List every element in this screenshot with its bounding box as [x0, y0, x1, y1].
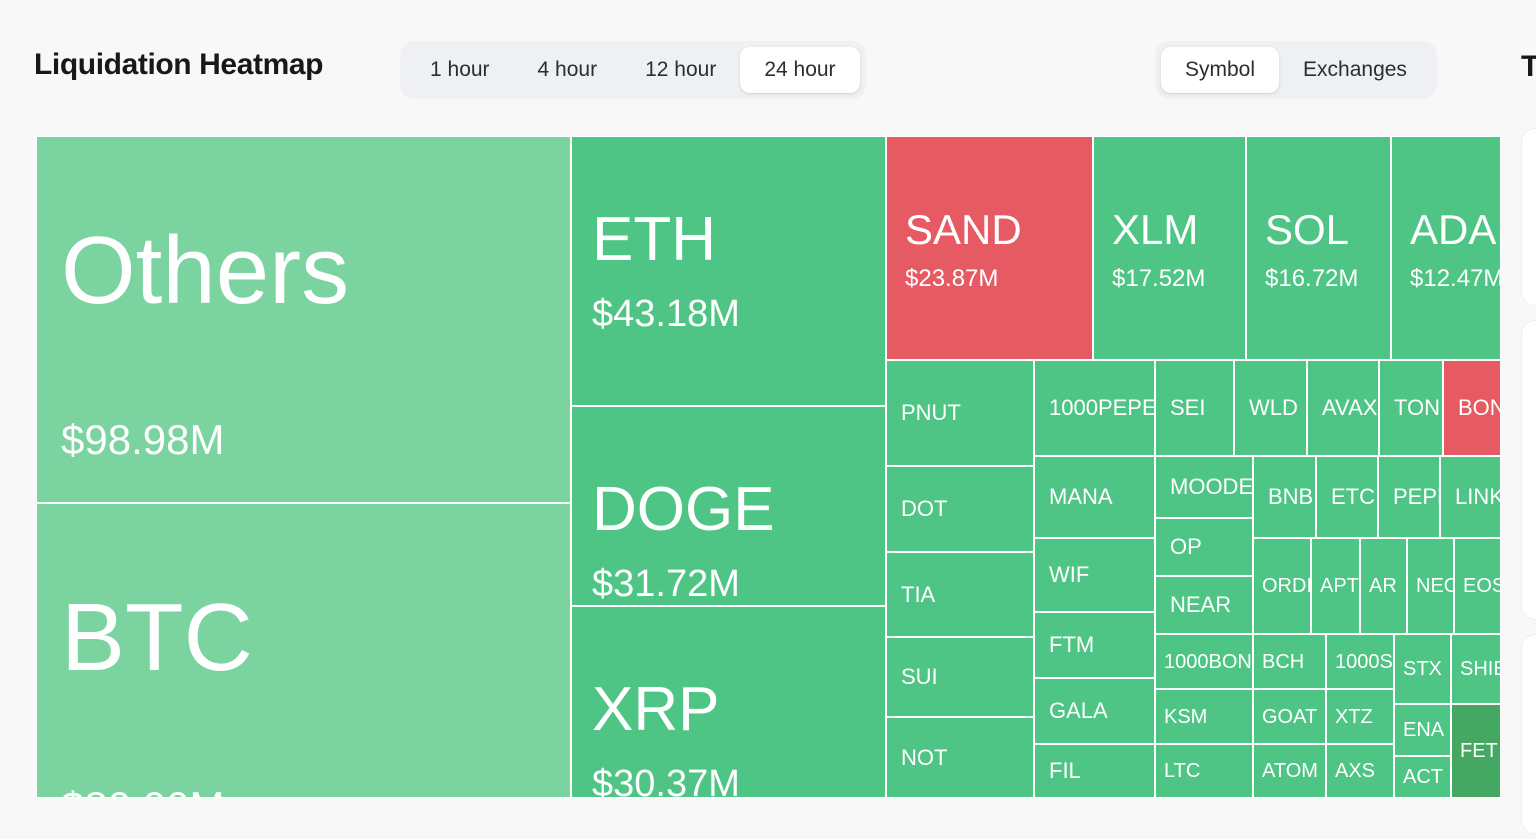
- tile-symbol-label: STX: [1403, 659, 1442, 679]
- tile-symbol-label: BONK: [1458, 397, 1501, 419]
- tile-value-label: $23.87M: [905, 267, 998, 291]
- tile-value-label: $30.37M: [592, 765, 740, 798]
- treemap-tile-sui[interactable]: SUI: [886, 637, 1034, 717]
- tile-symbol-label: XTZ: [1335, 707, 1373, 727]
- treemap-tile-bnb[interactable]: BNB: [1253, 456, 1316, 538]
- tile-symbol-label: NEAR: [1170, 594, 1231, 616]
- tile-symbol-label: SEI: [1170, 397, 1205, 419]
- treemap-tile-atom[interactable]: ATOM: [1253, 744, 1326, 798]
- tile-value-label: $98.98M: [61, 419, 224, 461]
- tile-symbol-label: PEPE: [1393, 486, 1440, 508]
- tile-symbol-label: DOT: [901, 498, 947, 520]
- tile-symbol-label: PNUT: [901, 402, 961, 424]
- tile-symbol-label: DOGE: [592, 479, 775, 541]
- treemap-tile-not[interactable]: NOT: [886, 717, 1034, 798]
- tile-symbol-label: LTC: [1164, 761, 1200, 781]
- tile-symbol-label: ORDI: [1262, 576, 1311, 596]
- treemap-tile-tia[interactable]: TIA: [886, 552, 1034, 637]
- treemap-tile-link[interactable]: LINK: [1440, 456, 1501, 538]
- treemap-tile-shib[interactable]: SHIB: [1451, 634, 1501, 704]
- treemap-tile-wld[interactable]: WLD: [1234, 360, 1307, 456]
- tile-symbol-label: FET: [1460, 741, 1498, 761]
- tile-value-label: $80.00M: [61, 786, 224, 798]
- treemap-tile-apt[interactable]: APT: [1311, 538, 1360, 634]
- tile-symbol-label: LINK: [1455, 486, 1501, 508]
- treemap-tile-near[interactable]: NEAR: [1155, 576, 1253, 634]
- treemap-tile-fet[interactable]: FET: [1451, 704, 1501, 798]
- treemap-tile-wif[interactable]: WIF: [1034, 538, 1155, 612]
- timeframe-option-4-hour[interactable]: 4 hour: [514, 47, 622, 93]
- tile-value-label: $31.72M: [592, 565, 740, 603]
- tile-symbol-label: SOL: [1265, 209, 1349, 251]
- tile-symbol-label: ETC: [1331, 486, 1375, 508]
- treemap-tile-1000bonk[interactable]: 1000BONK: [1155, 634, 1253, 689]
- tile-symbol-label: BTC: [61, 590, 253, 686]
- treemap-tile-avax[interactable]: AVAX: [1307, 360, 1379, 456]
- tile-symbol-label: ATOM: [1262, 761, 1318, 781]
- tile-symbol-label: SUI: [901, 666, 938, 688]
- side-panel-card[interactable]: [1521, 634, 1536, 834]
- tile-symbol-label: AXS: [1335, 761, 1375, 781]
- treemap-tile-eos[interactable]: EOS: [1454, 538, 1501, 634]
- tile-symbol-label: Others: [61, 223, 349, 319]
- app-header: Liquidation Heatmap 1 hour4 hour12 hour2…: [0, 0, 1536, 136]
- tile-symbol-label: BCH: [1262, 652, 1304, 672]
- tile-symbol-label: 1000PEPE: [1049, 397, 1155, 419]
- treemap-tile-sol[interactable]: SOL$16.72M: [1246, 136, 1391, 360]
- treemap-tile-act[interactable]: ACT: [1394, 756, 1451, 798]
- tile-symbol-label: GALA: [1049, 700, 1108, 722]
- tile-symbol-label: MANA: [1049, 486, 1113, 508]
- liquidation-treemap[interactable]: Others$98.98MBTC$80.00METH$43.18MDOGE$31…: [36, 136, 1501, 798]
- treemap-tile-xrp[interactable]: XRP$30.37M: [571, 606, 886, 798]
- tile-symbol-label: AVAX: [1322, 397, 1377, 419]
- tile-symbol-label: ETH: [592, 209, 716, 271]
- treemap-tile-1000shib[interactable]: 1000SHIB: [1326, 634, 1394, 689]
- tile-value-label: $16.72M: [1265, 267, 1358, 291]
- tile-symbol-label: ENA: [1403, 720, 1444, 740]
- treemap-tile-ar[interactable]: AR: [1360, 538, 1407, 634]
- treemap-tile-xlm[interactable]: XLM$17.52M: [1093, 136, 1246, 360]
- side-panel-card[interactable]: [1521, 320, 1536, 620]
- timeframe-option-12-hour[interactable]: 12 hour: [621, 47, 740, 93]
- tile-symbol-label: 1000BONK: [1164, 652, 1253, 672]
- tile-symbol-label: TIA: [901, 584, 935, 606]
- treemap-tile-ton[interactable]: TON: [1379, 360, 1443, 456]
- treemap-tile-pnut[interactable]: PNUT: [886, 360, 1034, 466]
- tile-symbol-label: OP: [1170, 536, 1202, 558]
- timeframe-option-1-hour[interactable]: 1 hour: [406, 47, 514, 93]
- treemap-tile-mana[interactable]: MANA: [1034, 456, 1155, 538]
- treemap-tile-ada[interactable]: ADA$12.47M: [1391, 136, 1501, 360]
- tile-symbol-label: 1000SHIB: [1335, 652, 1394, 672]
- treemap-tile-ftm[interactable]: FTM: [1034, 612, 1155, 678]
- treemap-tile-moodeng[interactable]: MOODENG: [1155, 456, 1253, 518]
- treemap-tile-ksm[interactable]: KSM: [1155, 689, 1253, 744]
- tile-symbol-label: EOS: [1463, 576, 1501, 596]
- timeframe-option-24-hour[interactable]: 24 hour: [740, 47, 859, 93]
- treemap-tile-1000pepe[interactable]: 1000PEPE: [1034, 360, 1155, 456]
- treemap-tile-btc[interactable]: BTC$80.00M: [36, 503, 571, 798]
- tile-symbol-label: TON: [1394, 397, 1440, 419]
- treemap-tile-bonk[interactable]: BONK: [1443, 360, 1501, 456]
- tile-symbol-label: SAND: [905, 209, 1022, 251]
- treemap-tile-bch[interactable]: BCH: [1253, 634, 1326, 689]
- tile-value-label: $43.18M: [592, 295, 740, 333]
- tile-symbol-label: WIF: [1049, 564, 1089, 586]
- treemap-tile-op[interactable]: OP: [1155, 518, 1253, 576]
- mode-option-symbol[interactable]: Symbol: [1161, 47, 1279, 93]
- tile-symbol-label: ACT: [1403, 767, 1443, 787]
- treemap-tile-pepe[interactable]: PEPE: [1378, 456, 1440, 538]
- mode-option-exchanges[interactable]: Exchanges: [1279, 47, 1431, 93]
- treemap-tile-others[interactable]: Others$98.98M: [36, 136, 571, 503]
- treemap-tile-eth[interactable]: ETH$43.18M: [571, 136, 886, 406]
- treemap-tile-ltc[interactable]: LTC: [1155, 744, 1253, 798]
- tile-symbol-label: KSM: [1164, 707, 1207, 727]
- tile-symbol-label: APT: [1320, 576, 1359, 596]
- tile-symbol-label: NOT: [901, 747, 947, 769]
- treemap-tile-dot[interactable]: DOT: [886, 466, 1034, 552]
- treemap-tile-sei[interactable]: SEI: [1155, 360, 1234, 456]
- tile-symbol-label: AR: [1369, 576, 1397, 596]
- tile-symbol-label: XRP: [592, 679, 719, 741]
- treemap-tile-ena[interactable]: ENA: [1394, 704, 1451, 756]
- treemap-tile-neo[interactable]: NEO: [1407, 538, 1454, 634]
- tile-symbol-label: NEO: [1416, 576, 1454, 596]
- treemap-tile-sand[interactable]: SAND$23.87M: [886, 136, 1093, 360]
- timeframe-segmented-control[interactable]: 1 hour4 hour12 hour24 hour: [400, 41, 866, 99]
- treemap-tile-axs[interactable]: AXS: [1326, 744, 1394, 798]
- tile-symbol-label: MOODENG: [1170, 476, 1253, 498]
- tile-symbol-label: FIL: [1049, 760, 1081, 782]
- page-title: Liquidation Heatmap: [34, 48, 323, 82]
- side-panel-heading: T: [1521, 50, 1536, 84]
- tile-symbol-label: WLD: [1249, 397, 1298, 419]
- tile-value-label: $17.52M: [1112, 267, 1205, 291]
- treemap-tile-gala[interactable]: GALA: [1034, 678, 1155, 744]
- tile-symbol-label: BNB: [1268, 486, 1313, 508]
- grouping-segmented-control[interactable]: SymbolExchanges: [1155, 41, 1437, 99]
- treemap-tile-goat[interactable]: GOAT: [1253, 689, 1326, 744]
- treemap-tile-stx[interactable]: STX: [1394, 634, 1451, 704]
- treemap-tile-xtz[interactable]: XTZ: [1326, 689, 1394, 744]
- tile-symbol-label: SHIB: [1460, 659, 1501, 679]
- treemap-tile-etc[interactable]: ETC: [1316, 456, 1378, 538]
- tile-symbol-label: FTM: [1049, 634, 1094, 656]
- tile-symbol-label: GOAT: [1262, 707, 1317, 727]
- tile-value-label: $12.47M: [1410, 267, 1501, 291]
- treemap-tile-doge[interactable]: DOGE$31.72M: [571, 406, 886, 606]
- treemap-tile-fil[interactable]: FIL: [1034, 744, 1155, 798]
- side-panel-card[interactable]: [1521, 128, 1536, 306]
- tile-symbol-label: XLM: [1112, 209, 1198, 251]
- tile-symbol-label: ADA: [1410, 209, 1496, 251]
- treemap-tile-ordi[interactable]: ORDI: [1253, 538, 1311, 634]
